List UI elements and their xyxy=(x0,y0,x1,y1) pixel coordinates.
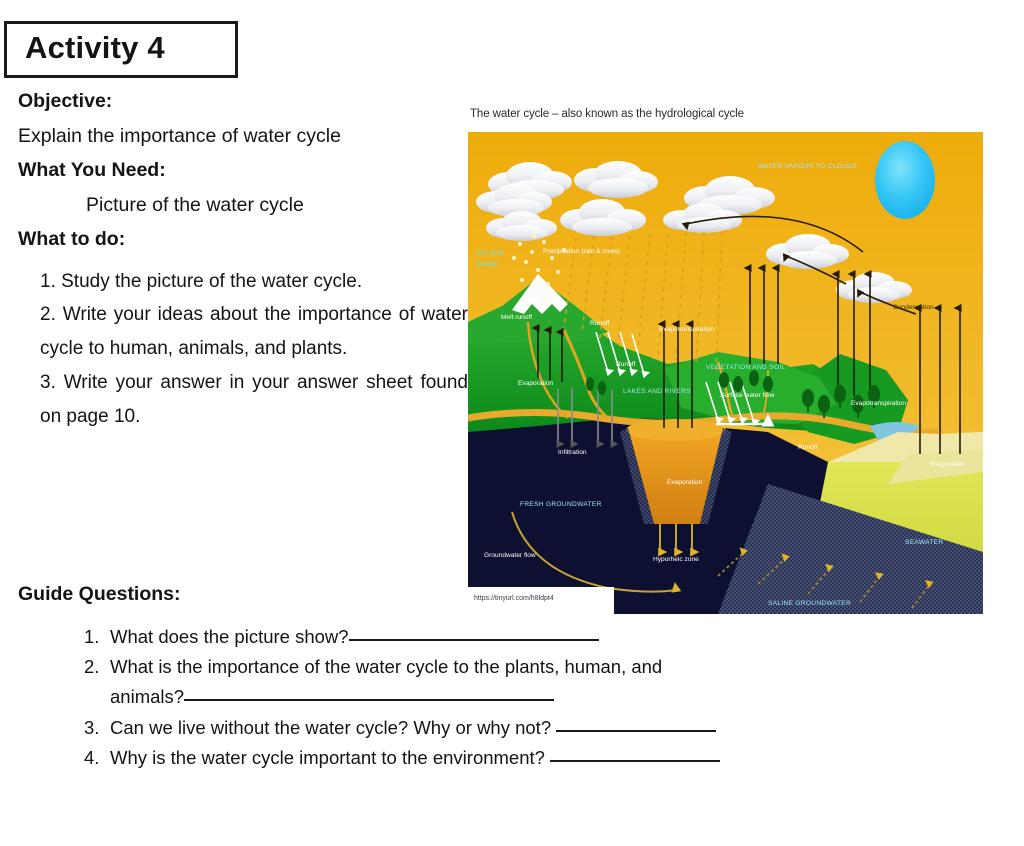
question-text: What is the importance of the water cycl… xyxy=(110,658,662,677)
page-title: Activity 4 xyxy=(25,30,165,66)
question-text: Why is the water cycle important to the … xyxy=(110,749,550,768)
figure-caption: The water cycle – also known as the hydr… xyxy=(470,108,744,120)
what-you-need-heading: What You Need: xyxy=(18,161,470,181)
answer-blank[interactable] xyxy=(184,686,554,701)
answer-blank[interactable] xyxy=(550,747,720,762)
water-cycle-diagram-image: ICE ANDSNOWPrecipitation (rain & snow)Me… xyxy=(468,132,983,614)
question-text-continuation: animals? xyxy=(110,686,184,708)
objective-heading: Objective: xyxy=(18,92,470,112)
step-item: 1. Study the picture of the water cycle. xyxy=(40,265,468,299)
step-item: 3. Write your answer in your answer shee… xyxy=(40,366,468,434)
question-item: 4. Why is the water cycle important to t… xyxy=(84,749,964,768)
question-number: 1. xyxy=(84,628,110,647)
water-cycle-figure: The water cycle – also known as the hydr… xyxy=(468,108,983,614)
question-number: 3. xyxy=(84,719,110,738)
what-you-need-item: Picture of the water cycle xyxy=(18,196,470,216)
objective-text: Explain the importance of water cycle xyxy=(18,127,470,147)
question-item: 3. Can we live without the water cycle? … xyxy=(84,719,964,738)
instructions-column: Objective: Explain the importance of wat… xyxy=(18,92,470,434)
guide-questions-heading: Guide Questions: xyxy=(18,583,181,606)
activity-title-box: Activity 4 xyxy=(4,21,238,78)
figure-source-plate: https://tinyurl.com/h8ldpt4 xyxy=(468,587,614,614)
question-item: 1. What does the picture show? xyxy=(84,628,964,647)
question-number: 2. xyxy=(84,658,110,677)
what-to-do-heading: What to do: xyxy=(18,230,470,250)
question-text: Can we live without the water cycle? Why… xyxy=(110,719,556,738)
question-number: 4. xyxy=(84,749,110,768)
guide-questions-list: 1. What does the picture show? 2. What i… xyxy=(84,628,964,778)
water-cycle-illustration xyxy=(468,132,983,614)
question-item: 2. What is the importance of the water c… xyxy=(84,658,964,709)
answer-blank[interactable] xyxy=(349,626,599,641)
step-item: 2. Write your ideas about the importance… xyxy=(40,298,468,366)
figure-source-url: https://tinyurl.com/h8ldpt4 xyxy=(474,595,554,602)
question-text: What does the picture show? xyxy=(110,628,349,647)
steps-list: 1. Study the picture of the water cycle.… xyxy=(18,265,470,434)
answer-blank[interactable] xyxy=(556,717,716,732)
